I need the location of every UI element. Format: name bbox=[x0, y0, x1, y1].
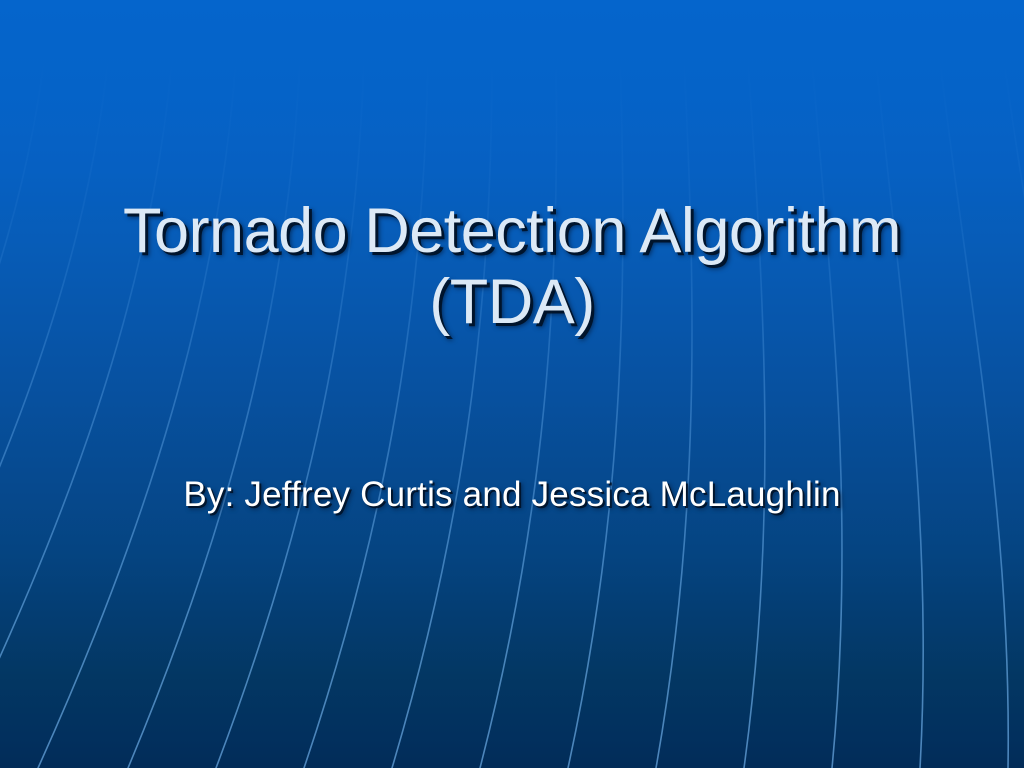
slide-title: Tornado Detection Algorithm (TDA) bbox=[112, 196, 912, 337]
slide-content: Tornado Detection Algorithm (TDA) By: Je… bbox=[0, 0, 1024, 768]
title-slide: Tornado Detection Algorithm (TDA) By: Je… bbox=[0, 0, 1024, 768]
slide-subtitle: By: Jeffrey Curtis and Jessica McLaughli… bbox=[132, 472, 892, 518]
